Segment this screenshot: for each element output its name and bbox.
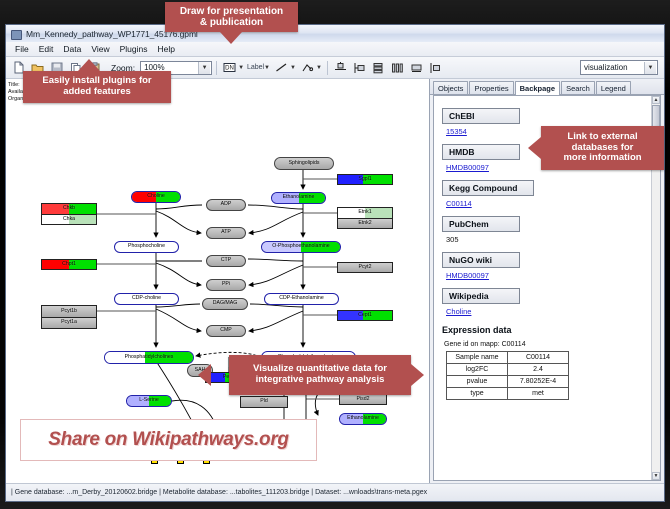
interaction-tool-icon[interactable] (299, 59, 316, 76)
table-row: pvalue 7.80252E-4 (447, 376, 569, 388)
node-label: DAG/MAG (213, 301, 238, 306)
row-key: log2FC (447, 364, 508, 376)
gene-label: Etnk1 (358, 210, 371, 215)
svg-text:DN: DN (225, 66, 234, 72)
gene-label: Pld (260, 399, 268, 404)
visualization-value: visualization (584, 63, 628, 72)
screenshot-root: Mm_Kennedy_pathway_WP1771_45176.gpml Fil… (0, 0, 670, 509)
node-dag-mag[interactable]: DAG/MAG (202, 298, 248, 310)
section-header-chebi: ChEBI (442, 108, 520, 124)
gene-label: Pcyt1a (61, 320, 77, 325)
gene-label: Sgpl1 (358, 177, 371, 182)
gene-label: Pcyt2 (359, 265, 372, 270)
menu-item-plugins[interactable]: Plugins (115, 43, 153, 55)
gene-chka[interactable]: Chka (41, 214, 97, 225)
callout-plugins: Easily install plugins for added feature… (23, 71, 171, 103)
section-header-pubchem: PubChem (442, 216, 520, 232)
value-pubchem: 305 (446, 235, 644, 244)
interaction-dropdown-icon[interactable]: ▼ (316, 65, 322, 71)
gene-label: Pisd2 (357, 397, 370, 402)
tab-properties[interactable]: Properties (469, 81, 513, 94)
tab-backpage[interactable]: Backpage (515, 81, 560, 95)
expression-data-title: Expression data (442, 325, 644, 335)
callout-links-line1: Link to external (567, 132, 637, 143)
node-phosphatidylcholines[interactable]: Phosphatidylcholines (104, 351, 194, 364)
side-panel-tabs: Objects Properties Backpage Search Legen… (430, 79, 664, 95)
node-label: ATP (221, 230, 231, 235)
tab-search[interactable]: Search (561, 81, 595, 94)
node-phosphocholine[interactable]: Phosphocholine (114, 241, 179, 253)
row-key: pvalue (447, 376, 508, 388)
link-wikipedia[interactable]: Choline (446, 307, 644, 316)
gene-label: Cept1 (358, 313, 372, 318)
link-kegg-compound[interactable]: C00114 (446, 199, 644, 208)
tab-legend[interactable]: Legend (596, 81, 631, 94)
visualization-combo[interactable]: visualization ▼ (580, 60, 658, 75)
node-label: PPi (222, 282, 230, 287)
section-header-hmdb: HMDB (442, 144, 520, 160)
gene-label: Chpt1 (62, 262, 76, 267)
node-label: Sphingolipids (289, 161, 320, 166)
node-label: O-Phosphoethanolamine (272, 244, 329, 249)
status-text: | Gene database: ...m_Derby_20120602.bri… (11, 489, 427, 496)
node-label: Phosphatidylcholines (125, 355, 174, 360)
node-label: CTP (221, 258, 231, 263)
status-bar: | Gene database: ...m_Derby_20120602.bri… (6, 483, 664, 501)
node-cdp-ethanolamine[interactable]: CDP-Ethanolamine (264, 293, 339, 305)
row-value: 2.4 (508, 364, 569, 376)
menu-bar: File Edit Data View Plugins Help (6, 42, 664, 57)
toolbar-separator-2 (327, 61, 328, 75)
section-header-kegg-compound: Kegg Compound (442, 180, 534, 196)
node-ethanolamine-bottom[interactable]: Ethanolamine (339, 413, 387, 425)
node-l-serine-left[interactable]: L-Serine (126, 395, 172, 407)
callout-draw-arrow-down-icon (220, 32, 242, 44)
menu-item-view[interactable]: View (86, 43, 114, 55)
node-label: Ethanolamine (283, 195, 315, 200)
align-icon[interactable] (332, 59, 349, 76)
node-adp[interactable]: ADP (206, 199, 246, 211)
callout-links-arrow-left-icon (528, 137, 541, 159)
tab-objects[interactable]: Objects (433, 81, 468, 94)
node-label: CDP-Ethanolamine (279, 296, 323, 301)
gene-pld[interactable]: Pld (240, 396, 288, 408)
gene-label: Etnk2 (358, 221, 371, 226)
node-label: Choline (147, 194, 165, 199)
gene-label: Chkb (63, 206, 75, 211)
node-label: L-Serine (139, 398, 159, 403)
gene-chpt1[interactable]: Chpt1 (41, 259, 97, 270)
node-label: ADP (221, 202, 232, 207)
gene-cept1[interactable]: Cept1 (337, 310, 393, 321)
stack-icon[interactable] (370, 59, 387, 76)
node-choline-top[interactable]: Choline (131, 191, 181, 203)
node-label: Ethanolamine (347, 416, 379, 421)
node-ctp[interactable]: CTP (206, 255, 246, 267)
gene-pcyt1a[interactable]: Pcyt1a (41, 317, 97, 329)
row-key: type (447, 388, 508, 400)
menu-item-file[interactable]: File (10, 43, 34, 55)
node-cdp-choline[interactable]: CDP-choline (114, 293, 179, 305)
node-o-phosphoethanolamine[interactable]: O-Phosphoethanolamine (261, 241, 341, 253)
node-ethanolamine-top[interactable]: Ethanolamine (271, 192, 326, 204)
callout-links: Link to external databases for more info… (541, 126, 664, 170)
table-row: type met (447, 388, 569, 400)
gene-pisd2[interactable]: Pisd2 (339, 394, 387, 405)
callout-visualize-arrow-left-icon (198, 364, 211, 386)
table-row: log2FC 2.4 (447, 364, 569, 376)
callout-plugins-arrow-up-icon (78, 59, 100, 71)
callout-visualize: Visualize quantitative data for integrat… (229, 355, 411, 395)
gene-chkb[interactable]: Chkb (41, 203, 97, 214)
callout-links-line3: more information (563, 153, 641, 164)
expression-data-table: Sample name C00114 log2FC 2.4 pvalue 7.8… (446, 351, 569, 400)
callout-draw-line2: & publication (200, 17, 263, 29)
callout-visualize-line2: integrative pathway analysis (256, 375, 385, 386)
callout-draw-line1: Draw for presentation (180, 6, 283, 18)
row-value: C00114 (508, 352, 569, 364)
toolbar-separator (216, 61, 217, 75)
gene-id-on-mapp: Gene id on mapp: C00114 (444, 341, 644, 348)
section-header-nugo-wiki: NuGO wiki (442, 252, 520, 268)
link-nugo-wiki[interactable]: HMDB00097 (446, 271, 644, 280)
scroll-down-arrow-icon[interactable]: ▼ (652, 472, 660, 480)
datanode-icon[interactable]: DN (221, 59, 238, 76)
gene-label: Chka (63, 217, 75, 222)
gene-sgpl1[interactable]: Sgpl1 (337, 174, 393, 185)
visualization-chevron-down-icon[interactable]: ▼ (644, 62, 656, 74)
row-value: met (508, 388, 569, 400)
node-label: CDP-choline (132, 296, 161, 301)
gene-etnk2[interactable]: Etnk2 (337, 218, 393, 229)
gene-pcyt2[interactable]: Pcyt2 (337, 262, 393, 273)
callout-share: Share on Wikipathways.org (20, 419, 317, 461)
menu-item-edit[interactable]: Edit (34, 43, 59, 55)
table-row: Sample name C00114 (447, 352, 569, 364)
node-label: CMP (220, 328, 232, 333)
gene-etnk1[interactable]: Etnk1 (337, 207, 393, 218)
row-key: Sample name (447, 352, 508, 364)
callout-draw: Draw for presentation & publication (165, 2, 298, 32)
order-icon[interactable] (427, 59, 444, 76)
node-label: Phosphocholine (128, 244, 165, 249)
distribute-icon[interactable] (389, 59, 406, 76)
line-tool-icon[interactable] (273, 59, 290, 76)
node-atp[interactable]: ATP (206, 227, 246, 239)
menu-item-data[interactable]: Data (58, 43, 86, 55)
section-header-wikipedia: Wikipedia (442, 288, 520, 304)
node-ppi[interactable]: PPi (206, 279, 246, 291)
align-left-icon[interactable] (351, 59, 368, 76)
group-icon[interactable] (408, 59, 425, 76)
gene-pcyt1b[interactable]: Pcyt1b (41, 305, 97, 317)
gene-label: Pcyt1b (61, 309, 77, 314)
line-dropdown-icon[interactable]: ▼ (290, 65, 296, 71)
callout-share-text: Share on Wikipathways.org (48, 429, 288, 451)
scroll-up-arrow-icon[interactable]: ▲ (652, 96, 660, 104)
label-dropdown-icon[interactable]: ▼ (264, 65, 270, 71)
node-cmp[interactable]: CMP (206, 325, 246, 337)
callout-plugins-line2: added features (63, 87, 131, 98)
callout-visualize-arrow-right-icon (411, 364, 424, 386)
node-sphingolipids[interactable]: Sphingolipids (274, 157, 334, 170)
row-value: 7.80252E-4 (508, 376, 569, 388)
title-bar: Mm_Kennedy_pathway_WP1771_45176.gpml (6, 25, 664, 43)
chevron-down-icon[interactable]: ▼ (198, 62, 210, 74)
menu-item-help[interactable]: Help (153, 43, 180, 55)
application-icon (10, 28, 22, 40)
label-tool-button[interactable]: Label (247, 59, 264, 76)
datanode-dropdown-icon[interactable]: ▼ (238, 65, 244, 71)
